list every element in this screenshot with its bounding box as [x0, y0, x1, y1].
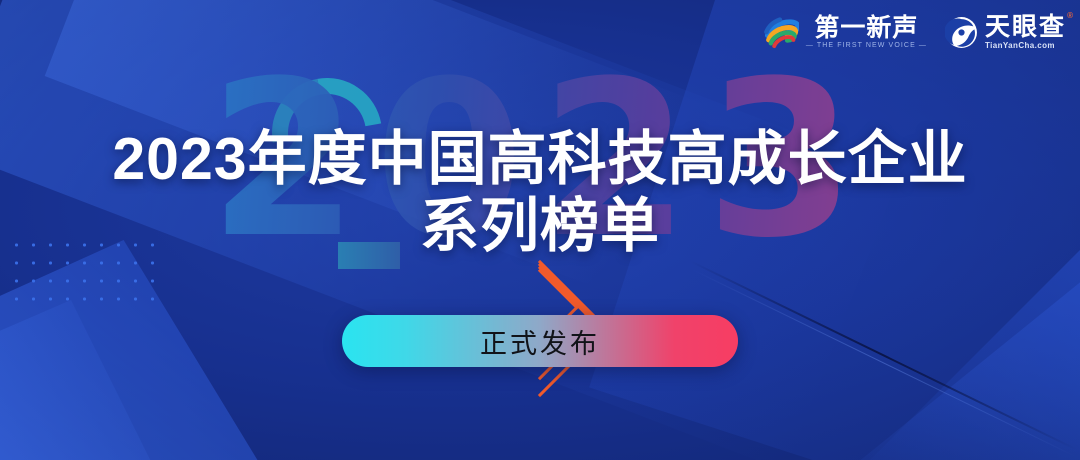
logo-first-new-voice-text: 第一新声 — THE FIRST NEW VOICE — [806, 15, 927, 49]
title-line-1: 2023年度中国高科技高成长企业 [0, 126, 1080, 193]
logo-bar: 第一新声 — THE FIRST NEW VOICE — 天眼查 ® [763, 14, 1066, 50]
decorative-teal-arc [250, 56, 403, 209]
page-title: 2023年度中国高科技高成长企业 系列榜单 [0, 126, 1080, 259]
logo-tianyancha-cn: 天眼查 ® [985, 14, 1066, 40]
decorative-hairline [690, 260, 1077, 450]
logo-tianyancha-text: 天眼查 ® TianYanCha.com [985, 14, 1066, 50]
logo-tianyancha-cn-label: 天眼查 [985, 13, 1066, 41]
decorative-wedge-right-2 [850, 250, 1080, 460]
logo-tianyancha-en: TianYanCha.com [985, 41, 1066, 50]
logo-first-new-voice-cn: 第一新声 [814, 15, 918, 41]
logo-first-new-voice[interactable]: 第一新声 — THE FIRST NEW VOICE — [763, 15, 927, 49]
decorative-wedge-bottom-left [0, 240, 300, 460]
decorative-diagonal-band-top [0, 0, 900, 460]
title-line-2: 系列榜单 [0, 193, 1080, 260]
decorative-dot-grid [8, 236, 158, 308]
decorative-diagonal-right [589, 0, 1080, 460]
logo-first-new-voice-en: — THE FIRST NEW VOICE — [806, 42, 927, 49]
promo-banner: 2023 第一新声 — THE FIRST NEW VOICE — [0, 0, 1080, 460]
release-status-badge[interactable]: 正式发布 [342, 315, 738, 367]
release-status-label: 正式发布 [480, 322, 600, 361]
year-watermark: 2023 [0, 52, 1080, 267]
decorative-wedge-right [700, 250, 1080, 460]
logo-tianyancha[interactable]: 天眼查 ® TianYanCha.com [945, 14, 1066, 50]
decorative-teal-block [338, 242, 400, 269]
trademark-icon: ® [1067, 12, 1075, 20]
decorative-hairline-2 [690, 268, 1077, 457]
decorative-wedge-bottom-left-2 [0, 300, 170, 460]
eye-lens-logo-icon [945, 16, 978, 49]
swirl-logo-icon [763, 15, 799, 49]
